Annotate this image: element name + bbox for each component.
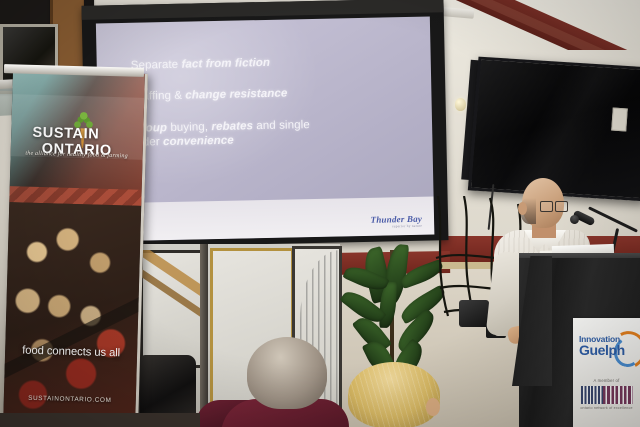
slide-content: Separate fact from fiction Staffing & ch… <box>131 53 413 167</box>
staircase-behind-glass <box>138 250 202 360</box>
slide-bullet-3: Group buying, rebates and single order c… <box>132 118 313 151</box>
trash-bag <box>140 355 196 417</box>
foreground-dark-edge <box>0 413 200 427</box>
banner-diagonal-shadow <box>3 281 148 382</box>
slide-bullet-2-emph: change resistance <box>185 88 287 102</box>
banner-photo-section: food connects us all SUSTAINONTARIO.COM <box>3 202 141 427</box>
podium-network-tagline: ontario network of excellence <box>573 406 640 410</box>
podium-member-label: A member of <box>573 378 640 383</box>
slide-bullet-3-mid-a: buying, <box>167 121 212 134</box>
wall-lamp-icon <box>455 98 466 111</box>
speaker-ear <box>518 202 527 215</box>
network-logo-icon-secondary <box>603 386 633 404</box>
podium-sign: Innovation Guelph A member of ontario ne… <box>573 318 640 427</box>
sustain-ontario-banner: SUSTAIN ONTARIO the alliance for healthy… <box>3 70 148 427</box>
innovation-guelph-logo: Innovation Guelph <box>579 332 635 366</box>
thunder-bay-logo: Thunder Bay superior by nature <box>370 214 422 229</box>
banner-url: SUSTAINONTARIO.COM <box>4 394 136 405</box>
screen-surface: Separate fact from fiction Staffing & ch… <box>96 17 434 242</box>
wall-outlet <box>611 108 628 132</box>
attendee-gray-hair <box>243 337 335 427</box>
attendee-blonde-ear <box>426 398 440 416</box>
banner-wordmark-left: SUSTAIN <box>32 125 99 143</box>
slide-bullet-2: Staffing & change resistance <box>131 84 411 104</box>
attendee-gray-hair-head <box>247 337 327 409</box>
banner-top-section: SUSTAIN ONTARIO the alliance for healthy… <box>9 70 145 206</box>
power-adapter-box <box>459 300 489 327</box>
presentation-room-photo: Separate fact from fiction Staffing & ch… <box>0 0 640 427</box>
slide-bullet-3-emph-b: rebates <box>211 120 253 133</box>
eyeglasses-icon <box>540 201 566 210</box>
attendee-blonde <box>348 362 448 427</box>
podium-logo-line2: Guelph <box>579 343 625 357</box>
slide-footer-band: Thunder Bay superior by nature <box>100 196 435 241</box>
slide-bullet-1-emph: fact from fiction <box>181 57 270 71</box>
slide-bullet-3-emph-c: convenience <box>163 135 234 148</box>
attendee-blonde-hair-strands <box>348 362 440 427</box>
door-divider <box>200 244 208 427</box>
